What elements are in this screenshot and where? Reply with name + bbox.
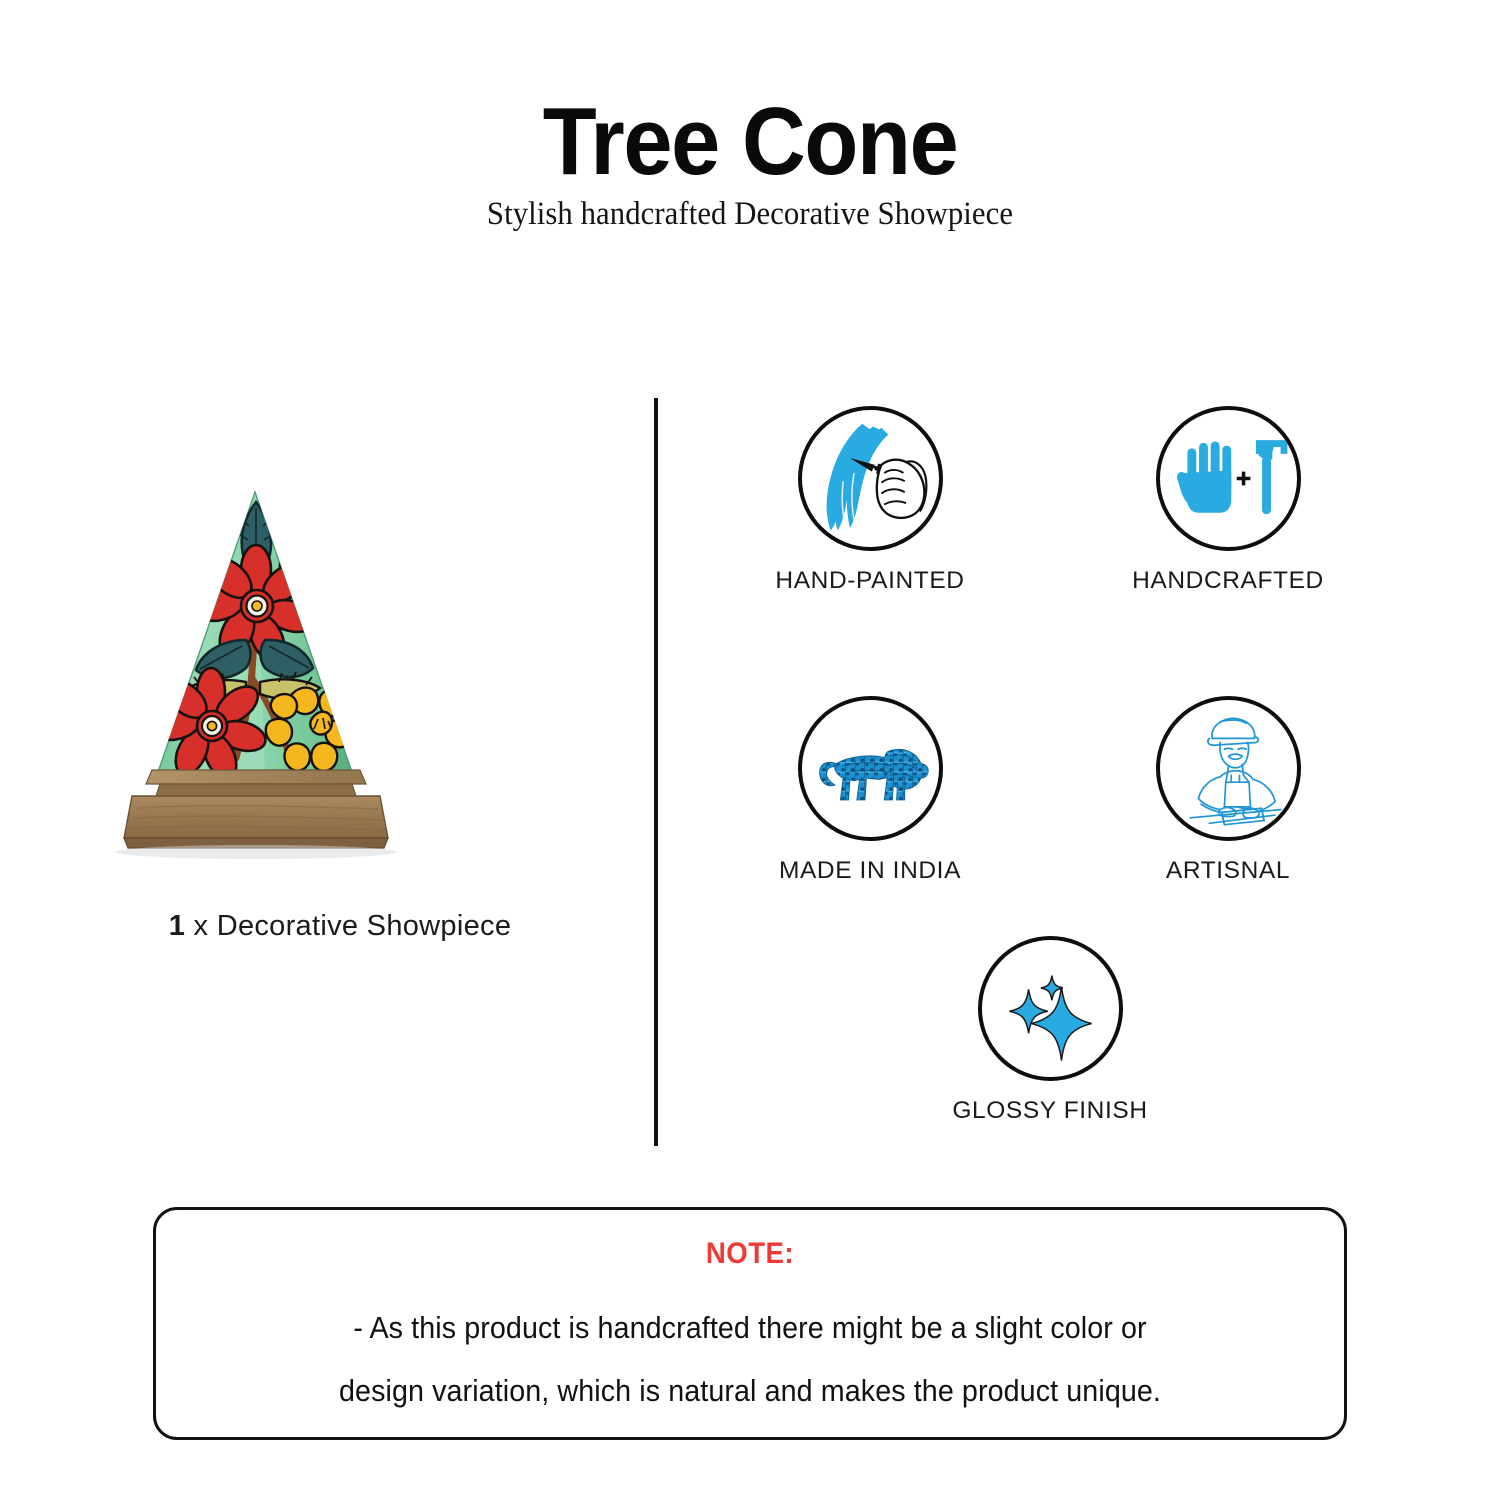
note-heading: NOTE:: [204, 1237, 1297, 1271]
note-box: NOTE: - As this product is handcrafted t…: [153, 1207, 1347, 1440]
badge-circle: [798, 696, 943, 841]
product-caption: 1 x Decorative Showpiece: [60, 910, 620, 943]
badge-label: HANDCRAFTED: [1078, 567, 1378, 595]
badge-label: GLOSSY FINISH: [900, 1097, 1200, 1125]
badge-label: HAND-PAINTED: [720, 567, 1020, 595]
glossy-finish-icon: [982, 940, 1119, 1077]
note-line-2: design variation, which is natural and m…: [192, 1376, 1309, 1407]
badge-circle: [978, 936, 1123, 1081]
product-caption-text: x Decorative Showpiece: [185, 910, 511, 942]
handcrafted-icon: [1160, 410, 1297, 547]
product-panel: 1 x Decorative Showpiece: [60, 440, 620, 1060]
vertical-divider: [654, 398, 658, 1146]
badge-circle: [1156, 696, 1301, 841]
product-quantity: 1: [169, 910, 185, 942]
badge-hand-painted: HAND-PAINTED: [720, 406, 1020, 595]
badge-circle: [1156, 406, 1301, 551]
feature-badge-grid: HAND-PAINTED: [700, 398, 1460, 1158]
badge-handcrafted: HANDCRAFTED: [1078, 406, 1378, 595]
page-title: Tree Cone: [60, 96, 1440, 187]
badge-circle: [798, 406, 943, 551]
badge-made-in-india: MADE IN INDIA: [720, 696, 1020, 885]
badge-label: ARTISNAL: [1078, 857, 1378, 885]
artisnal-icon: [1160, 700, 1297, 837]
note-line-1: - As this product is handcrafted there m…: [192, 1313, 1309, 1344]
made-in-india-icon: [802, 700, 939, 837]
header: Tree Cone Stylish handcrafted Decorative…: [0, 96, 1500, 235]
hand-painted-icon: [802, 410, 939, 547]
product-image: [60, 440, 620, 880]
badge-label: MADE IN INDIA: [720, 857, 1020, 885]
badge-glossy-finish: GLOSSY FINISH: [900, 936, 1200, 1125]
page-subtitle: Stylish handcrafted Decorative Showpiece: [53, 195, 1448, 235]
badge-artisnal: ARTISNAL: [1078, 696, 1378, 885]
